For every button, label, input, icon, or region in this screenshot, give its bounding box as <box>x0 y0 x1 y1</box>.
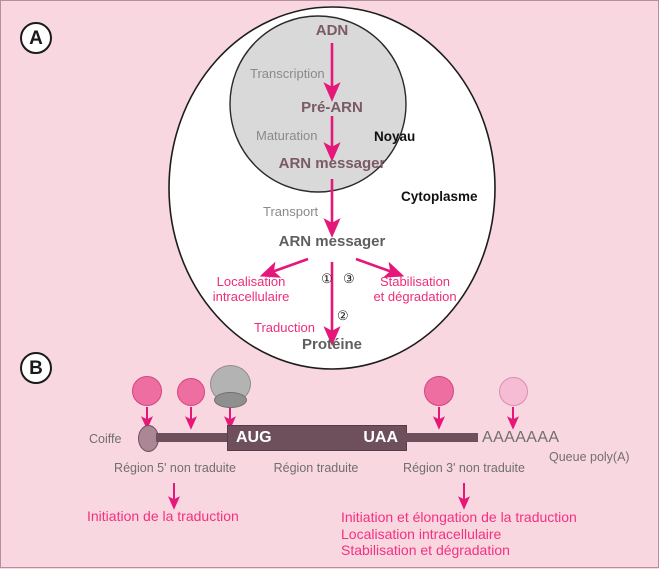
factor-circle-3 <box>424 376 454 406</box>
stop-codon-label: UAA <box>363 429 398 447</box>
label-mrna-cytoplasmic: ARN messager <box>279 234 386 251</box>
label-poly-a-tail: Queue poly(A) <box>549 450 630 464</box>
fate-stabilisation-line2: et dégradation <box>373 289 456 304</box>
fate-number-3: ③ <box>343 271 355 287</box>
label-fate-stabilisation: Stabilisation et dégradation <box>373 274 456 305</box>
panel-badge-a: A <box>20 22 52 54</box>
label-region-5prime: Région 5' non traduite <box>114 461 236 475</box>
label-cytoplasm: Cytoplasme <box>401 189 478 204</box>
five-prime-utr-bar <box>156 433 230 442</box>
label-transport: Transport <box>263 205 318 220</box>
factor-circle-4 <box>499 377 528 406</box>
label-transcription: Transcription <box>250 67 325 82</box>
label-fate-localisation: Localisation intracellulaire <box>213 274 290 305</box>
label-maturation: Maturation <box>256 129 317 144</box>
fate-stabilisation-line1: Stabilisation <box>380 274 450 289</box>
three-prime-utr-bar <box>406 433 478 442</box>
label-pre-rna: Pré-ARN <box>301 100 363 117</box>
label-region-3prime: Région 3' non traduite <box>403 461 525 475</box>
start-codon-label: AUG <box>236 429 272 447</box>
outcome-right-line2: Localisation intracellulaire <box>341 526 501 542</box>
outcome-right-line3: Stabilisation et dégradation <box>341 542 510 558</box>
outcome-left-line1: Initiation de la traduction <box>87 509 239 525</box>
label-region-coding: Région traduite <box>274 461 359 475</box>
factor-circle-2 <box>177 378 205 406</box>
poly-a-sequence: AAAAAAA <box>482 429 560 447</box>
label-traduction: Traduction <box>254 321 315 336</box>
panel-badge-b: B <box>20 352 52 384</box>
label-nucleus: Noyau <box>374 129 415 144</box>
factor-circle-1 <box>132 376 162 406</box>
ribosome-small-subunit-icon <box>214 392 247 408</box>
outcome-right-block: Initiation et élongation de la traductio… <box>341 509 577 559</box>
coding-region-box: AUG UAA <box>227 425 407 451</box>
label-cap: Coiffe <box>89 432 121 446</box>
label-dna: ADN <box>316 23 349 40</box>
figure-canvas: A B ADN Transcription Pré-ARN Maturation… <box>0 0 659 568</box>
label-protein: Protéine <box>302 337 362 354</box>
fate-number-2: ② <box>337 308 349 324</box>
fate-localisation-line1: Localisation <box>217 274 286 289</box>
label-mrna-nuclear: ARN messager <box>279 156 386 173</box>
fate-localisation-line2: intracellulaire <box>213 289 290 304</box>
outcome-right-line1: Initiation et élongation de la traductio… <box>341 509 577 525</box>
fate-number-1: ① <box>321 271 333 287</box>
